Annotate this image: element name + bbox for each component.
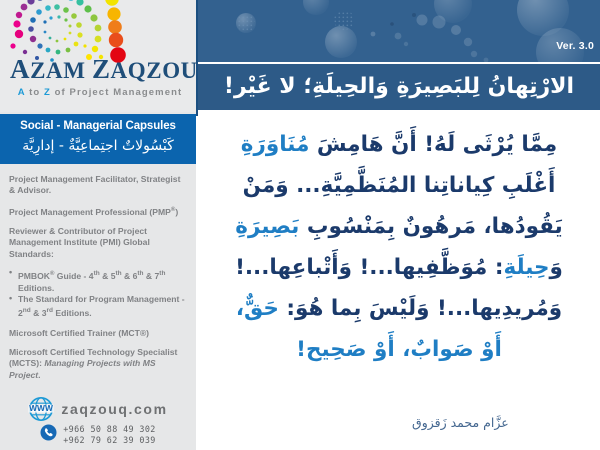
credential-mcts: Microsoft Certified Technology Specialis… (9, 347, 186, 381)
version-label: Ver. 3.0 (556, 40, 594, 52)
body-line-3: يَقُودُها، مَرهُونٌ بِمَنْسُوبِ بَصِيرَة… (202, 206, 596, 247)
body-line-6: أَوْ صَوابٌ، أَوْ صَحِيح! (202, 329, 596, 370)
svg-text:WWW: WWW (30, 403, 54, 413)
headline-text: الارْتِهانُ لِلبَصِيرَةِ وَالحِيلَةِ؛ لا… (224, 67, 574, 107)
body-line-5-run-1: وَمُريدِيها...! وَلَيْسَ بِما هُوَ: (279, 296, 562, 321)
credentials-list: Project Management Facilitator, Strategi… (0, 168, 196, 389)
capsule-title-en: Social - Managerial Capsules (6, 118, 190, 134)
standard-item: PMBOK® Guide - 4th & 5th & 6th & 7th Edi… (9, 268, 186, 294)
body-line-1-run-2: مُنَاوَرَةِ (241, 132, 310, 157)
phone-number-2: +962 79 62 39 039 (63, 435, 156, 446)
website-row[interactable]: WWW zaqzouq.com (0, 396, 196, 422)
body-line-2-run-1: أَغْلَبِ كِياناتِنا المُنَظَّمِيَّةِ... … (243, 173, 556, 198)
brand-wordmark: AZAM ZAQZOUQ A to Z of Project Managemen… (10, 56, 190, 98)
standards-list: PMBOK® Guide - 4th & 5th & 6th & 7th Edi… (9, 268, 186, 319)
credential-mct: Microsoft Certified Trainer (MCT®) (9, 328, 186, 339)
body-line-6-run-1: أَوْ صَوابٌ، أَوْ صَحِيح! (296, 337, 502, 362)
tagline-z: Z (44, 87, 51, 98)
credential-item: Project Management Professional (PMP®) (9, 205, 186, 218)
body-line-2: أَغْلَبِ كِياناتِنا المُنَظَّمِيَّةِ... … (202, 165, 596, 206)
body-text: مِمَّا يُرْثَى لَهُ! أَنَّ هَامِشَ مُنَا… (202, 124, 596, 370)
phone-row: +966 50 88 49 302 +962 79 62 39 039 (0, 424, 196, 446)
logo-block: AZAM ZAQZOUQ A to Z of Project Managemen… (0, 0, 196, 112)
tagline-to: to (25, 87, 44, 98)
hero-banner: Ver. 3.0 (198, 0, 600, 62)
main-panel: Ver. 3.0 الارْتِهانُ لِلبَصِيرَةِ وَالحِ… (196, 0, 600, 450)
mcts-period: . (38, 370, 40, 380)
www-globe-icon: WWW (28, 396, 54, 422)
credential-item: Project Management Facilitator, Strategi… (9, 174, 186, 197)
body-line-5-run-2: حَقٌّ، (236, 296, 279, 321)
standard-item: The Standard for Program Management - 2n… (9, 294, 186, 320)
sidebar: AZAM ZAQZOUQ A to Z of Project Managemen… (0, 0, 196, 450)
brand-initial-z: Z (92, 54, 111, 84)
slide-canvas: AZAM ZAQZOUQ A to Z of Project Managemen… (0, 0, 600, 450)
brand-name-rest-2: AQZOUQ (111, 58, 196, 83)
body-line-4-run-1: وَ (550, 255, 563, 280)
brand-name: AZAM ZAQZOUQ (10, 56, 190, 83)
body-line-4-run-2: حِيلَةِ (503, 255, 549, 280)
brand-tagline: A to Z of Project Management (10, 87, 190, 98)
body-line-1: مِمَّا يُرْثَى لَهُ! أَنَّ هَامِشَ مُنَا… (202, 124, 596, 165)
tagline-rest: of Project Management (51, 87, 182, 98)
body-line-4-run-3: : مُوَظَّفِيها...! وَأَتْباعِها...! (235, 255, 503, 280)
phone-numbers: +966 50 88 49 302 +962 79 62 39 039 (63, 424, 156, 446)
bubble-decoration (198, 0, 600, 62)
capsule-title-band: Social - Managerial Capsules كَبْسُولاتٌ… (0, 114, 196, 164)
body-line-5: وَمُريدِيها...! وَلَيْسَ بِما هُوَ: حَقٌ… (202, 288, 596, 329)
body-line-1-run-1: مِمَّا يُرْثَى لَهُ! أَنَّ هَامِشَ (309, 132, 557, 157)
phone-number-1: +966 50 88 49 302 (63, 424, 156, 435)
brand-name-rest-1: ZAM (30, 58, 85, 83)
body-line-4: وَحِيلَةِ: مُوَظَّفِيها...! وَأَتْباعِها… (202, 247, 596, 288)
brand-initial-a: A (10, 54, 30, 84)
author-signature: عزَّام محمد زَقزوق (412, 414, 509, 432)
phone-circle-icon (40, 424, 57, 441)
website-text[interactable]: zaqzouq.com (61, 401, 167, 417)
credential-item: Reviewer & Contributor of Project Manage… (9, 226, 186, 260)
headline-band: الارْتِهانُ لِلبَصِيرَةِ وَالحِيلَةِ؛ لا… (198, 64, 600, 110)
body-line-3-run-1: يَقُودُها، مَرهُونٌ بِمَنْسُوبِ (299, 214, 562, 239)
capsule-title-ar: كَبْسُولاتٌ اجتِماعِيَّةٌ - إدارِيَّة (6, 134, 190, 158)
body-line-3-run-2: بَصِيرَةِ (235, 214, 299, 239)
